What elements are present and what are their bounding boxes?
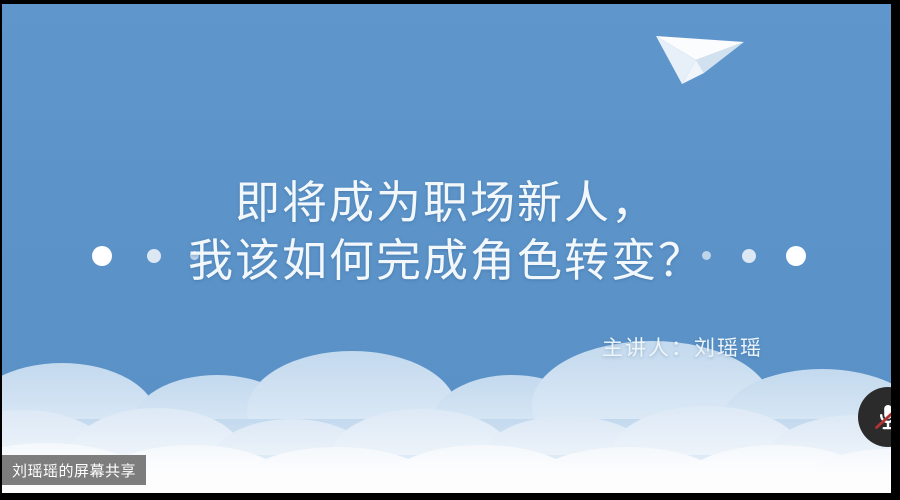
slide-title-line-2: 我该如何完成角色转变？ bbox=[2, 232, 891, 290]
shared-slide: 即将成为职场新人， 我该如何完成角色转变？ 主讲人：刘瑶瑶 bbox=[2, 4, 891, 493]
paper-plane-icon bbox=[652, 26, 748, 88]
window-bezel-top bbox=[0, 0, 900, 4]
slide-presenter: 主讲人：刘瑶瑶 bbox=[2, 332, 763, 362]
window-bezel-bottom bbox=[0, 493, 900, 500]
window-bezel-right bbox=[891, 0, 900, 500]
screen-share-label: 刘瑶瑶的屏幕共享 bbox=[2, 455, 146, 485]
slide-title: 即将成为职场新人， 我该如何完成角色转变？ bbox=[2, 174, 891, 290]
screen-share-viewport: 即将成为职场新人， 我该如何完成角色转变？ 主讲人：刘瑶瑶 bbox=[0, 0, 900, 500]
slide-title-line-1: 即将成为职场新人， bbox=[2, 174, 891, 232]
window-bezel-left bbox=[0, 0, 2, 500]
